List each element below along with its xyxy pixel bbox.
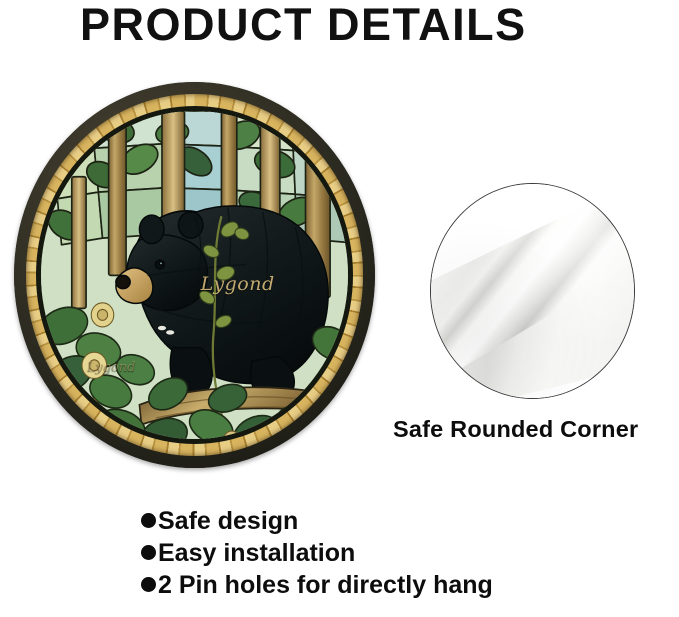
safe-rounded-corner-image (430, 183, 635, 399)
feature-label: Safe design (158, 507, 298, 535)
feature-label: Easy installation (158, 539, 355, 567)
list-item: 2 Pin holes for directly hang (141, 569, 493, 601)
product-sign-image: Lygond Lygond (14, 82, 375, 468)
safe-rounded-corner-caption: Safe Rounded Corner (393, 416, 673, 443)
bullet-icon (141, 513, 156, 528)
stained-glass-artwork: Lygond Lygond (41, 111, 349, 440)
macro-circle-frame (430, 183, 635, 399)
sign-disc: Lygond Lygond (14, 82, 375, 468)
feature-label: 2 Pin holes for directly hang (158, 571, 493, 599)
stained-glass-mosaic-svg (41, 111, 349, 440)
feature-list: Safe design Easy installation 2 Pin hole… (141, 505, 493, 601)
macro-shading-overlay (431, 184, 634, 398)
list-item: Safe design (141, 505, 493, 537)
bullet-icon (141, 577, 156, 592)
page-title: PRODUCT DETAILS (80, 0, 527, 50)
bullet-icon (141, 545, 156, 560)
list-item: Easy installation (141, 537, 493, 569)
